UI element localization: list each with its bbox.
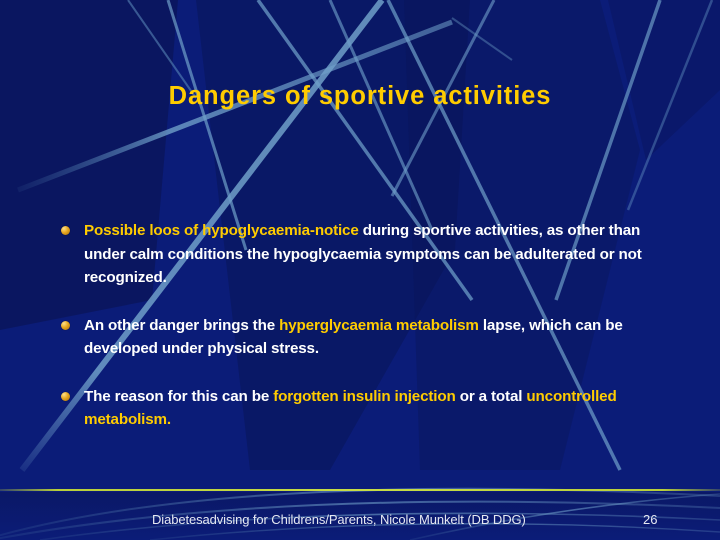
presentation-slide: Dangers of sportive activities Possible … <box>0 0 720 540</box>
footer-divider <box>0 489 720 491</box>
page-number: 26 <box>643 512 657 527</box>
bullet-text: An other danger brings the hyperglycaemi… <box>84 314 660 361</box>
gold-sphere-bullet-icon <box>61 392 70 401</box>
bullet-highlight: hyperglycaemia metabolism <box>279 317 479 334</box>
footer-text: Diabetesadvising for Childrens/Parents, … <box>152 512 526 527</box>
list-item: An other danger brings the hyperglycaemi… <box>60 314 660 361</box>
gold-sphere-bullet-icon <box>61 226 70 235</box>
bullet-highlight: Possible loos of hypoglycaemia-notice <box>84 222 359 239</box>
bullet-list: Possible loos of hypoglycaemia-notice du… <box>60 219 660 456</box>
bullet-body: or a total <box>456 388 527 405</box>
list-item: The reason for this can be forgotten ins… <box>60 385 660 432</box>
list-item: Possible loos of hypoglycaemia-notice du… <box>60 219 660 290</box>
gold-sphere-bullet-icon <box>61 321 70 330</box>
bullet-text: Possible loos of hypoglycaemia-notice du… <box>84 219 660 290</box>
bullet-body: The reason for this can be <box>84 388 273 405</box>
bullet-text: The reason for this can be forgotten ins… <box>84 385 660 432</box>
bullet-highlight: forgotten insulin injection <box>273 388 455 405</box>
slide-title: Dangers of sportive activities <box>0 82 720 111</box>
bullet-body: An other danger brings the <box>84 317 279 334</box>
